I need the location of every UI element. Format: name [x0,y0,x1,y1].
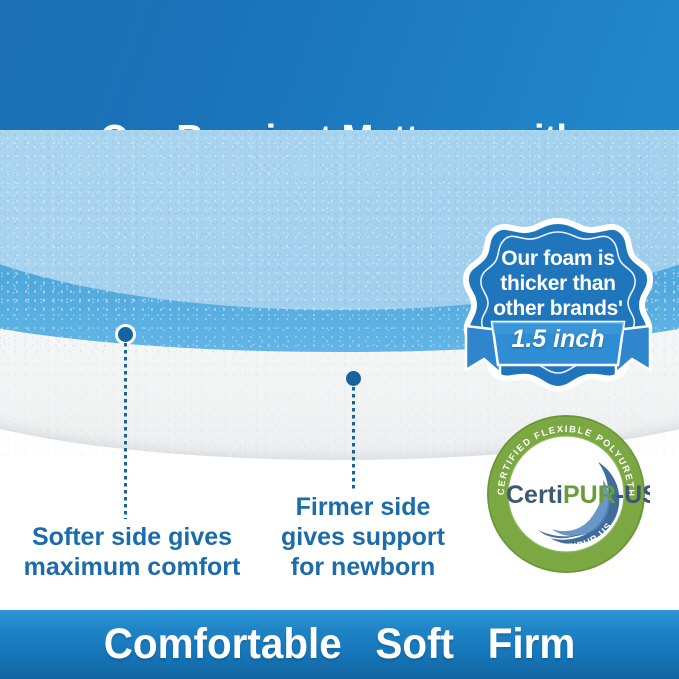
caption-firmer-side: Firmer side gives support for newborn [268,492,458,582]
leader-line-softer [124,343,127,519]
footer-keywords: Comfortable Soft Firm [20,619,658,669]
certipur-seal-icon: CONTAINS CERTIFIED FLEXIBLE POLYURETHANE… [482,410,650,578]
header-banner: Our Bassinet Mattress with Softer and Fi… [0,0,679,130]
badge-headline: Our foam is thicker than other brands' [452,246,664,321]
caption-softer-side: Softer side gives maximum comfort [10,522,254,582]
footer-banner: Comfortable Soft Firm [0,610,679,679]
header-title-line-1: Our Bassinet Mattress with [24,114,655,130]
certipur-wordmark: CertiPUR-US® [506,481,650,509]
badge-ribbon-label: 1.5 inch [452,325,664,354]
marker-dot-firmer [346,371,361,386]
certipur-us-logo: CONTAINS CERTIFIED FLEXIBLE POLYURETHANE… [482,410,650,578]
header-title: Our Bassinet Mattress with Softer and Fi… [24,12,655,130]
marker-dot-softer [118,327,133,342]
thickness-badge: Our foam is thicker than other brands' 1… [452,218,664,393]
infographic-canvas: Our Bassinet Mattress with Softer and Fi… [0,0,679,679]
leader-line-firmer [352,387,355,491]
